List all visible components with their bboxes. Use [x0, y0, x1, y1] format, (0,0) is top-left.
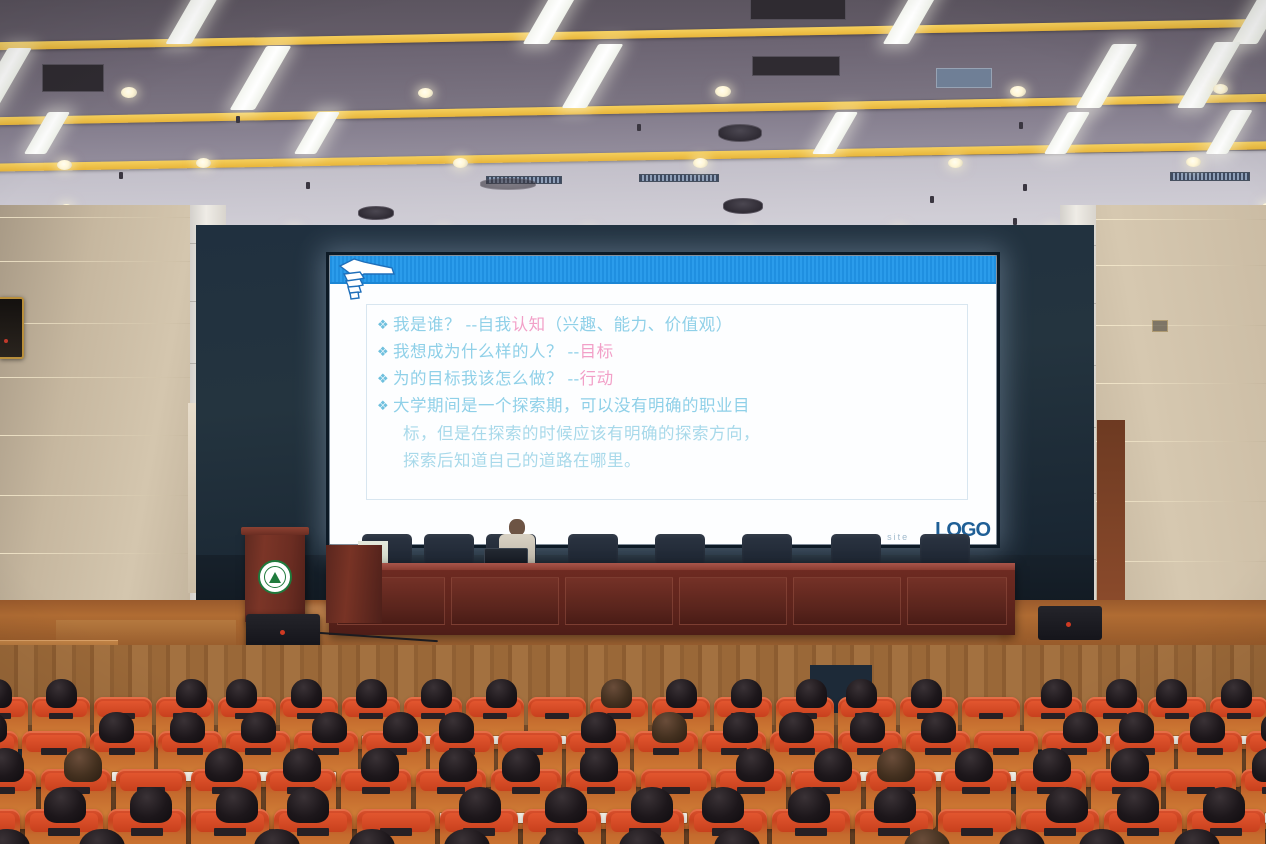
audience-member-head [170, 712, 205, 743]
recessed-downlight [948, 158, 963, 168]
bullet-continuation-line: 探索后知道自己的道路在哪里。 [377, 450, 959, 471]
recessed-downlight [1010, 86, 1026, 97]
audience-member-head [788, 787, 830, 823]
seat-back-slot [653, 748, 679, 755]
seat-back-slot [214, 828, 245, 836]
bullet-text: 我想成为什么样的人？ --目标 [393, 342, 614, 362]
stage-chair [831, 534, 881, 566]
hvac-vent [750, 0, 846, 20]
audience-member-head [736, 748, 774, 782]
audience-member-head [1033, 748, 1071, 782]
recessed-downlight [1213, 84, 1228, 94]
seat-back-slot [1044, 828, 1075, 836]
recessed-downlight [121, 87, 137, 98]
seat-back-slot [1197, 748, 1223, 755]
audience-member-head [1190, 712, 1225, 743]
seat-back-slot [961, 828, 992, 836]
sprinkler-head [1023, 184, 1027, 191]
audience-member-head [581, 712, 616, 743]
recessed-downlight [715, 86, 731, 97]
seat-back-slot [41, 748, 67, 755]
slide-header-edge [330, 282, 996, 284]
seat-back-slot [737, 787, 765, 794]
bullet-continuation-line: 标，但是在探索的时候应该有明确的探索方向， [377, 423, 959, 444]
table-panel [451, 577, 559, 625]
seat-back-slot [1165, 713, 1188, 719]
hvac-grille [1170, 172, 1250, 181]
audience-member-head [439, 748, 477, 782]
audience-member-head [99, 712, 134, 743]
recessed-downlight [196, 158, 211, 168]
bullet-text-segment: 我想成为什么样的人？ -- [393, 342, 580, 361]
seat-back-slot [1227, 713, 1250, 719]
pointing-hand-icon [334, 256, 412, 304]
audience-member-head [814, 748, 852, 782]
audience-member-head [1119, 712, 1154, 743]
seat-back-slot [857, 748, 883, 755]
audience-member-head [216, 787, 258, 823]
audience-member-head [545, 787, 587, 823]
speaker-led-indicator [1066, 622, 1071, 627]
seat-back-slot [789, 748, 815, 755]
ceiling-dome-fixture [723, 198, 763, 214]
seat-back-slot [483, 713, 506, 719]
audience-member-head [486, 679, 517, 708]
bullet-text: 大学期间是一个探索期，可以没有明确的职业目 [393, 396, 750, 416]
hvac-vent [936, 68, 992, 88]
audience-member-head [1106, 679, 1137, 708]
presidium-table [329, 563, 1015, 635]
seat-back-slot [131, 828, 162, 836]
audience-member-head [877, 748, 915, 782]
audience-member-head [850, 712, 885, 743]
sprinkler-head [236, 116, 240, 123]
floor-monitor-speaker [1038, 606, 1102, 640]
ceiling-dome-fixture [358, 206, 394, 220]
seat-back-slot [962, 787, 990, 794]
podium-top-surface [241, 527, 309, 535]
slide-bullet-item: ❖ 为的目标我该怎么做？ --行动 [377, 369, 959, 389]
speaker-led-indicator [280, 630, 285, 635]
slide-footer-site-text: site [887, 532, 909, 542]
audience-member-head [702, 787, 744, 823]
table-panel [679, 577, 787, 625]
bullet-marker-icon: ❖ [377, 369, 393, 389]
seat-back-slot [48, 828, 79, 836]
bullet-text-segment: 我是谁？ --自我 [393, 315, 512, 334]
seat-back-slot [925, 748, 951, 755]
seat-back-slot [177, 748, 203, 755]
audience-member-head [361, 748, 399, 782]
seat-back-slot [512, 787, 540, 794]
audience-member-head [1046, 787, 1088, 823]
bullet-marker-icon: ❖ [377, 315, 393, 335]
slide-bullet-item: ❖ 大学期间是一个探索期，可以没有明确的职业目 [377, 396, 959, 416]
audience-member-head [46, 679, 77, 708]
bullet-text-highlight: 认知 [512, 315, 546, 334]
sprinkler-head [637, 124, 641, 131]
seat-back-slot [878, 828, 909, 836]
seat-back-slot [795, 828, 826, 836]
audience-member-head [439, 712, 474, 743]
projection-screen: ❖ 我是谁？ --自我认知（兴趣、能力、价值观） ❖ 我想成为什么样的人？ --… [330, 256, 996, 544]
slide-content-box: ❖ 我是谁？ --自我认知（兴趣、能力、价值观） ❖ 我想成为什么样的人？ --… [366, 304, 968, 500]
audience-seating-area [0, 645, 1266, 844]
recessed-downlight [1186, 157, 1201, 167]
stage-side-cabinet [326, 545, 382, 623]
audience-member-head [955, 748, 993, 782]
table-top-edge [329, 563, 1015, 570]
audience-member-head [459, 787, 501, 823]
seat-back-slot [245, 748, 271, 755]
recessed-downlight [57, 160, 72, 170]
speaker-led-indicator [4, 339, 8, 343]
slide-bullet-list: ❖ 我是谁？ --自我认知（兴趣、能力、价值观） ❖ 我想成为什么样的人？ --… [367, 305, 967, 471]
recessed-downlight [693, 158, 708, 168]
slide-header-band [330, 256, 996, 282]
stage-chair [568, 534, 618, 566]
seat-back-slot [362, 787, 390, 794]
ceiling-dome-fixture [718, 124, 762, 142]
audience-member-head [911, 679, 942, 708]
sprinkler-head [930, 196, 934, 203]
audience-member-head [130, 787, 172, 823]
seat-back-slot [1127, 828, 1158, 836]
audience-member-head [601, 679, 632, 708]
audience-member-head [723, 712, 758, 743]
wall-speaker [0, 297, 24, 359]
bullet-text: 为的目标我该怎么做？ --行动 [393, 369, 614, 389]
audience-member-head [796, 679, 827, 708]
seat-back-slot [109, 748, 135, 755]
seat-back-slot [1262, 787, 1266, 794]
recessed-downlight [453, 158, 468, 168]
audience-member-head [1041, 679, 1072, 708]
hvac-vent [752, 56, 840, 76]
audience-member-head [1063, 712, 1098, 743]
audience-member-head [283, 748, 321, 782]
audience-member-head [64, 748, 102, 782]
seat-back-slot [49, 713, 72, 719]
audience-member-head [226, 679, 257, 708]
seat-back-slot [1041, 713, 1064, 719]
seat-back-slot [359, 713, 382, 719]
bullet-text: 我是谁？ --自我认知（兴趣、能力、价值观） [393, 315, 733, 335]
seat-back-slot [1210, 828, 1241, 836]
seat-back-slot [437, 787, 465, 794]
audience-member-head [44, 787, 86, 823]
seat-back-slot [297, 828, 328, 836]
seat-back-slot [587, 787, 615, 794]
university-crest-icon [258, 560, 292, 594]
audience-member-head [502, 748, 540, 782]
floor-monitor-speaker [246, 614, 320, 648]
audience-member-head [421, 679, 452, 708]
seat-back-slot [993, 748, 1019, 755]
bullet-text-segment: （兴趣、能力、价值观） [546, 315, 733, 334]
sprinkler-head [119, 172, 123, 179]
audience-member-head [205, 748, 243, 782]
bullet-text-highlight: 行动 [580, 369, 614, 388]
crest-tree-glyph [269, 572, 281, 583]
audience-member-head [1203, 787, 1245, 823]
audience-member-head [779, 712, 814, 743]
bullet-text-segment: 为的目标我该怎么做？ -- [393, 369, 580, 388]
bullet-text-highlight: 目标 [580, 342, 614, 361]
recessed-downlight [418, 88, 433, 98]
audience-member-head [921, 712, 956, 743]
lectern-podium [245, 532, 305, 622]
audience-member-head [1117, 787, 1159, 823]
hvac-grille [639, 174, 719, 182]
table-panel [565, 577, 673, 625]
audience-member-head [1111, 748, 1149, 782]
sprinkler-head [1013, 218, 1017, 225]
audience-member-head [874, 787, 916, 823]
bullet-marker-icon: ❖ [377, 342, 393, 362]
slide-bullet-item: ❖ 我想成为什么样的人？ --目标 [377, 342, 959, 362]
audience-member-head [631, 787, 673, 823]
audience-member-head [652, 712, 687, 743]
audience-member-head [1221, 679, 1252, 708]
table-panel [793, 577, 901, 625]
wall-speaker [1152, 320, 1168, 332]
seat-back-slot [979, 713, 1002, 719]
seat-back-slot [0, 787, 15, 794]
sprinkler-head [1019, 122, 1023, 129]
bullet-marker-icon: ❖ [377, 396, 393, 416]
audience-member-head [287, 787, 329, 823]
audience-member-head [291, 679, 322, 708]
sprinkler-head [306, 182, 310, 189]
audience-member-head [356, 679, 387, 708]
slide-bullet-item: ❖ 我是谁？ --自我认知（兴趣、能力、价值观） [377, 315, 959, 335]
audience-member-head [176, 679, 207, 708]
seat-back-slot [545, 713, 568, 719]
stage-chair [920, 534, 970, 566]
audience-member-head [580, 748, 618, 782]
audience-member-head [241, 712, 276, 743]
right-doorway [1097, 420, 1125, 600]
stage-chair [424, 534, 474, 566]
table-panel [907, 577, 1007, 625]
hvac-vent [42, 64, 104, 92]
audience-member-head [666, 679, 697, 708]
auditorium-photo: ❖ 我是谁？ --自我认知（兴趣、能力、价值观） ❖ 我想成为什么样的人？ --… [0, 0, 1266, 844]
stage-chair [742, 534, 792, 566]
audience-member-head [846, 679, 877, 708]
stage-chair [655, 534, 705, 566]
ceiling-dome-fixture [480, 178, 536, 190]
crest-inner-ring [264, 566, 286, 588]
audience-member-head [312, 712, 347, 743]
audience-member-head [383, 712, 418, 743]
audience-member-head [1156, 679, 1187, 708]
presentation-slide: ❖ 我是谁？ --自我认知（兴趣、能力、价值观） ❖ 我想成为什么样的人？ --… [330, 256, 996, 544]
audience-member-head [731, 679, 762, 708]
